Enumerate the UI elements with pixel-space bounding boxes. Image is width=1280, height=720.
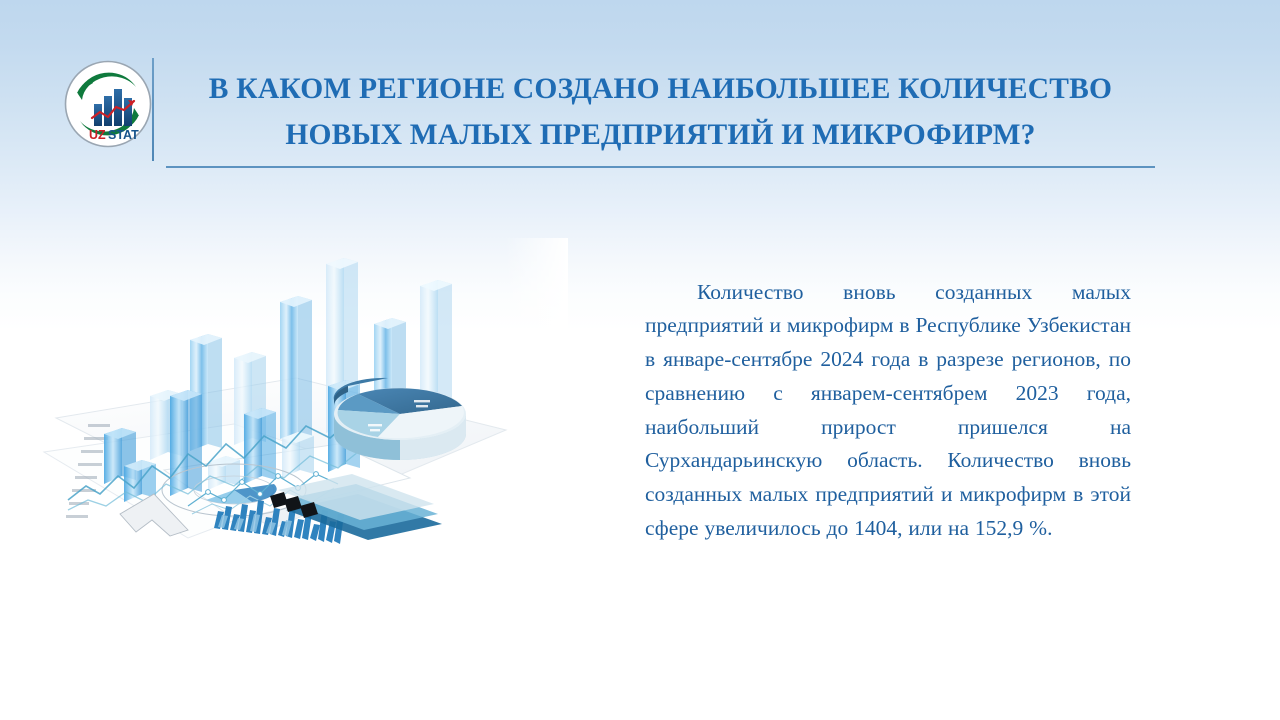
description-paragraph: Количество вновь созданных малых предпри…	[645, 276, 1131, 546]
header-horizontal-divider	[166, 166, 1155, 168]
header-vertical-divider	[152, 58, 154, 161]
page-title-line-2: НОВЫХ МАЛЫХ ПРЕДПРИЯТИЙ И МИКРОФИРМ?	[166, 112, 1155, 158]
logo-wordmark-uz: UZ	[89, 128, 106, 142]
page-title: В КАКОМ РЕГИОНЕ СОЗДАНО НАИБОЛЬШЕЕ КОЛИЧ…	[166, 66, 1155, 158]
slide-header: UZ STAT В КАКОМ РЕГИОНЕ СОЗДАНО НАИБОЛЬШ…	[0, 0, 1280, 185]
business-analytics-illustration	[38, 238, 568, 568]
uzstat-logo: UZ STAT	[64, 60, 152, 148]
logo-wordmark-stat: STAT	[108, 128, 139, 142]
slide-root: UZ STAT В КАКОМ РЕГИОНЕ СОЗДАНО НАИБОЛЬШ…	[0, 0, 1280, 720]
page-title-line-1: В КАКОМ РЕГИОНЕ СОЗДАНО НАИБОЛЬШЕЕ КОЛИЧ…	[166, 66, 1155, 112]
